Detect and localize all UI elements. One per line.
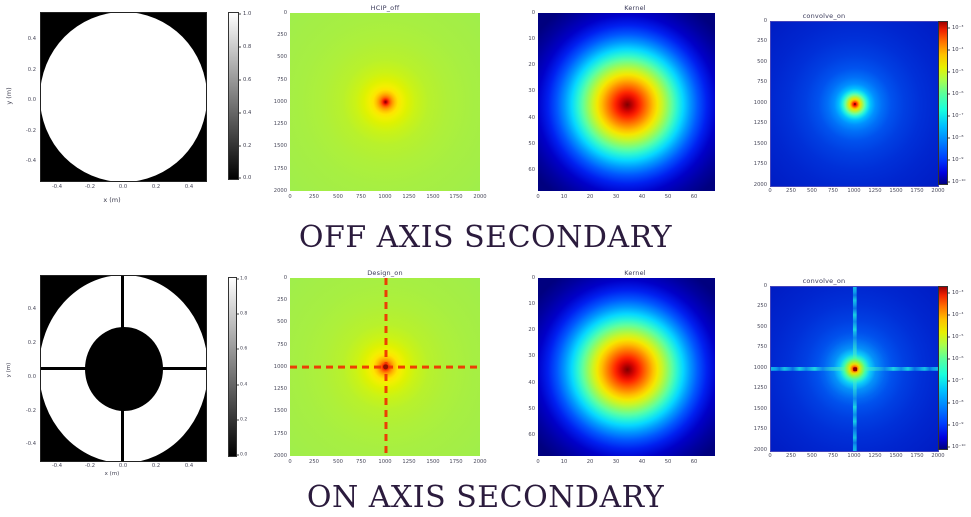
ytick-design-on-3: 750 [267,342,287,348]
ytick-kernel-on-1: 10 [518,301,535,307]
plot-area-hcip-off[interactable] [290,13,480,191]
plot-title-hcip-off: HCIP_off [255,4,515,12]
ytick-hcip-off-1: 250 [267,32,287,38]
cbtick-log-on-2: 10⁻⁵ [952,334,963,340]
xtick-design-on-5: 1250 [402,459,415,465]
cbtick-gray-off-3: 0.4 [243,110,251,116]
ytick-design-on-0: 0 [267,275,287,281]
colorbar-tickmark [948,160,950,161]
cbtick-log-off-2: 10⁻⁵ [952,69,963,75]
xtick-kernel-on-4: 40 [639,459,646,465]
ytick-aperture-off-4: -0.4 [14,158,36,164]
colorbar-tickmark [239,146,241,147]
cbtick-gray-on-3: 0.4 [240,383,247,388]
ytick-design-on-4: 1000 [267,364,287,370]
xtick-conv-off-8: 2000 [931,188,944,194]
heatmap-kernel-on [538,278,715,456]
figure-canvas: 0.4 0.2 0.0 -0.2 -0.4 -0.4 -0.2 0.0 0.2 … [0,0,971,517]
ytick-kernel-off-6: 60 [518,167,535,173]
panel-design-on: Design_on 0 250 500 750 1000 1250 1500 1… [255,265,515,480]
xtick-kernel-on-0: 0 [536,459,539,465]
ytick-kernel-off-3: 30 [518,88,535,94]
xtick-design-on-8: 2000 [473,459,486,465]
ytick-kernel-on-0: 0 [518,275,535,281]
ytick-kernel-off-4: 40 [518,115,535,121]
cbtick-log-off-7: 10⁻¹⁰ [952,179,966,185]
cbtick-gray-off-5: 0.0 [243,175,251,181]
cbtick-gray-on-2: 0.6 [240,347,247,352]
xaxis-label-aperture-off: x (m) [103,196,120,204]
colorbar-tickmark [948,425,950,426]
xtick-kernel-off-3: 30 [613,194,620,200]
cbtick-log-off-6: 10⁻⁹ [952,157,963,163]
xtick-conv-on-6: 1500 [889,453,902,459]
xtick-kernel-on-1: 10 [561,459,568,465]
colorbar-tickmark [237,279,239,280]
plot-title-kernel-off: Kernel [510,4,760,12]
plot-title-design-on: Design_on [255,269,515,277]
xtick-hcip-off-6: 1500 [426,194,439,200]
ytick-kernel-off-5: 50 [518,141,535,147]
cbtick-log-off-0: 10⁻³ [952,25,963,31]
ytick-aperture-on-3: -0.2 [14,408,36,414]
xtick-kernel-on-5: 50 [665,459,672,465]
xtick-conv-on-1: 250 [786,453,796,459]
colorbar-tickmark [237,455,239,456]
colorbar-tickmark [948,182,950,183]
colorbar-gradient [938,286,948,450]
colorbar-tickmark [948,50,950,51]
xtick-aperture-on-3: 0.2 [152,463,160,469]
colorbar-tickmark [948,447,950,448]
spider-vane-horizontal [41,367,206,370]
colorbar-tickmark [948,381,950,382]
cbtick-gray-off-1: 0.8 [243,44,251,50]
ytick-conv-off-5: 1250 [752,120,767,126]
cbtick-log-on-7: 10⁻¹⁰ [952,444,966,450]
plot-area-kernel-off[interactable] [538,13,715,191]
colorbar-tickmark [237,420,239,421]
yaxis-label-aperture-off: y (m) [5,87,13,104]
cbtick-log-on-1: 10⁻⁴ [952,312,963,318]
xaxis-label-aperture-on: x (m) [105,471,120,477]
ytick-aperture-on-0: 0.4 [18,306,36,312]
ytick-conv-off-7: 1750 [752,161,767,167]
xtick-hcip-off-0: 0 [288,194,291,200]
cbtick-gray-off-2: 0.6 [243,77,251,83]
xtick-aperture-off-4: 0.4 [185,184,193,190]
xtick-hcip-off-3: 750 [356,194,366,200]
cbtick-log-on-6: 10⁻⁹ [952,422,963,428]
xtick-conv-off-5: 1250 [868,188,881,194]
cbtick-gray-on-1: 0.8 [240,312,247,317]
ytick-conv-on-1: 250 [752,303,767,309]
colorbar-gradient [938,21,948,185]
xtick-aperture-on-4: 0.4 [185,463,193,469]
colorbar-tickmark [239,14,241,15]
xtick-conv-on-8: 2000 [931,453,944,459]
xtick-kernel-off-4: 40 [639,194,646,200]
ytick-conv-off-1: 250 [752,38,767,44]
xtick-kernel-off-5: 50 [665,194,672,200]
xtick-kernel-on-2: 20 [587,459,594,465]
ytick-hcip-off-5: 1250 [267,121,287,127]
ytick-design-on-6: 1500 [267,408,287,414]
panel-kernel-off-axis: Kernel 0 10 20 30 40 50 60 0 10 20 30 40… [510,0,760,215]
xtick-hcip-off-8: 2000 [473,194,486,200]
xtick-conv-on-5: 1250 [868,453,881,459]
ytick-design-on-8: 2000 [267,453,287,459]
xtick-design-on-3: 750 [356,459,366,465]
panel-aperture-off-axis: 0.4 0.2 0.0 -0.2 -0.4 -0.4 -0.2 0.0 0.2 … [0,0,250,215]
xtick-conv-off-2: 500 [807,188,817,194]
xtick-design-on-7: 1750 [449,459,462,465]
xtick-conv-on-3: 750 [828,453,838,459]
ytick-conv-on-3: 750 [752,344,767,350]
xtick-aperture-on-2: 0.0 [119,463,127,469]
xtick-design-on-1: 250 [309,459,319,465]
cbtick-gray-on-5: 0.0 [240,453,247,458]
ytick-hcip-off-2: 500 [267,54,287,60]
ytick-design-on-5: 1250 [267,386,287,392]
colorbar-tickmark [948,403,950,404]
ytick-hcip-off-7: 1750 [267,166,287,172]
xtick-kernel-off-2: 20 [587,194,594,200]
xtick-aperture-on-1: -0.2 [85,463,95,469]
ytick-kernel-off-0: 0 [518,10,535,16]
colorbar-tickmark [948,116,950,117]
caption-off-axis-secondary: OFF AXIS SECONDARY [0,220,971,255]
colorbar-tickmark [948,94,950,95]
ytick-conv-on-4: 1000 [752,365,767,371]
cbtick-gray-on-4: 0.2 [240,418,247,423]
cbtick-log-off-3: 10⁻⁶ [952,91,963,97]
psf-core [853,368,857,372]
colorbar-tickmark [239,113,241,114]
xtick-design-on-0: 0 [288,459,291,465]
plot-area-aperture-on-axis[interactable] [40,275,207,462]
panel-hcip-off: HCIP_off 0 250 500 750 1000 1250 1500 17… [255,0,515,215]
plot-title-convolve-on: convolve_on [714,277,934,285]
colorbar-tickmark [239,178,241,179]
psf-core [383,364,389,369]
xtick-kernel-off-6: 60 [691,194,698,200]
xtick-aperture-on-0: -0.4 [52,463,62,469]
xtick-conv-off-0: 0 [768,188,771,194]
ytick-conv-off-2: 500 [752,59,767,65]
ytick-aperture-on-2: 0.0 [18,374,36,380]
xtick-kernel-off-1: 10 [561,194,568,200]
panel-kernel-on-axis: Kernel 0 10 20 30 40 50 60 0 10 20 30 40… [510,265,760,480]
cbtick-gray-on-0: 1.0 [240,277,247,282]
xtick-design-on-2: 500 [333,459,343,465]
ytick-hcip-off-3: 750 [267,77,287,83]
cbtick-log-off-5: 10⁻⁸ [952,135,963,141]
caption-on-axis-secondary: ON AXIS SECONDARY [0,480,971,515]
panel-aperture-on-axis: 0.4 0.2 0.0 -0.2 -0.4 -0.4 -0.2 0.0 0.2 … [0,265,250,480]
heatmap-kernel-off [538,13,715,191]
plot-title-convolve-off: convolve_on [714,12,934,20]
colorbar-tickmark [237,349,239,350]
ytick-design-on-2: 500 [267,319,287,325]
ytick-hcip-off-8: 2000 [267,188,287,194]
xtick-conv-off-1: 250 [786,188,796,194]
ytick-hcip-off-0: 0 [267,10,287,16]
ytick-kernel-on-3: 30 [518,353,535,359]
ytick-hcip-off-6: 1500 [267,143,287,149]
plot-title-kernel-on: Kernel [510,269,760,277]
cbtick-log-off-4: 10⁻⁷ [952,113,963,119]
ytick-conv-on-0: 0 [752,283,767,289]
ytick-aperture-on-1: 0.2 [18,340,36,346]
xtick-hcip-off-5: 1250 [402,194,415,200]
plot-area-convolve-on[interactable] [770,286,939,452]
colorbar-tickmark [948,28,950,29]
colorbar-gradient [228,12,239,180]
plot-area-kernel-on[interactable] [538,278,715,456]
ytick-aperture-off-0: 0.4 [18,36,36,42]
xtick-kernel-on-3: 30 [613,459,620,465]
heatmap-hcip-off [290,13,480,191]
ytick-conv-on-7: 1750 [752,426,767,432]
ytick-conv-on-2: 500 [752,324,767,330]
ytick-conv-off-3: 750 [752,79,767,85]
colorbar-log-on-axis[interactable]: 10⁻³ 10⁻⁴ 10⁻⁵ 10⁻⁶ 10⁻⁷ 10⁻⁸ 10⁻⁹ 10⁻¹⁰ [938,286,948,450]
ytick-aperture-off-2: 0.0 [18,97,36,103]
colorbar-tickmark [237,314,239,315]
xtick-conv-off-4: 1000 [847,188,860,194]
ytick-conv-off-0: 0 [752,18,767,24]
xtick-hcip-off-4: 1000 [378,194,391,200]
ytick-conv-off-4: 1000 [752,100,767,106]
ytick-conv-off-8: 2000 [752,182,767,188]
plot-area-convolve-off[interactable] [770,21,939,187]
ytick-conv-on-5: 1250 [752,385,767,391]
ytick-kernel-off-2: 20 [518,62,535,68]
colorbar-tickmark [948,315,950,316]
ytick-aperture-on-4: -0.4 [14,441,36,447]
colorbar-gradient [228,277,237,457]
xtick-conv-off-7: 1750 [910,188,923,194]
colorbar-gray-on-axis[interactable]: 1.0 0.8 0.6 0.4 0.2 0.0 [228,277,237,457]
ytick-conv-on-8: 2000 [752,447,767,453]
xtick-hcip-off-7: 1750 [449,194,462,200]
ytick-kernel-on-5: 50 [518,406,535,412]
xtick-aperture-off-2: 0.0 [119,184,127,190]
ytick-design-on-7: 1750 [267,431,287,437]
ytick-kernel-on-2: 20 [518,327,535,333]
cbtick-log-on-0: 10⁻³ [952,290,963,296]
cbtick-log-on-5: 10⁻⁸ [952,400,963,406]
cbtick-gray-off-4: 0.2 [243,143,251,149]
colorbar-tickmark [239,47,241,48]
xtick-kernel-on-6: 60 [691,459,698,465]
ytick-design-on-1: 250 [267,297,287,303]
cbtick-log-off-1: 10⁻⁴ [952,47,963,53]
ytick-conv-on-6: 1500 [752,406,767,412]
xtick-conv-off-6: 1500 [889,188,902,194]
colorbar-tickmark [239,80,241,81]
ytick-kernel-off-1: 10 [518,36,535,42]
colorbar-tickmark [948,359,950,360]
xtick-conv-on-2: 500 [807,453,817,459]
pupil-seam [41,95,206,98]
yaxis-label-aperture-on: y (m) [6,363,12,378]
xtick-conv-off-3: 750 [828,188,838,194]
xtick-conv-on-7: 1750 [910,453,923,459]
ytick-aperture-off-3: -0.2 [14,128,36,134]
colorbar-tickmark [237,385,239,386]
xtick-conv-on-4: 1000 [847,453,860,459]
ytick-kernel-on-6: 60 [518,432,535,438]
xtick-hcip-off-2: 500 [333,194,343,200]
xtick-kernel-off-0: 0 [536,194,539,200]
plot-area-design-on[interactable] [290,278,480,456]
ytick-hcip-off-4: 1000 [267,99,287,105]
colorbar-log-off-axis[interactable]: 10⁻³ 10⁻⁴ 10⁻⁵ 10⁻⁶ 10⁻⁷ 10⁻⁸ 10⁻⁹ 10⁻¹⁰ [938,21,948,185]
plot-area-aperture-off-axis[interactable] [40,12,207,182]
colorbar-tickmark [948,138,950,139]
xtick-hcip-off-1: 250 [309,194,319,200]
xtick-aperture-off-3: 0.2 [152,184,160,190]
colorbar-tickmark [948,293,950,294]
colorbar-gray-off-axis[interactable]: 1.0 0.8 0.6 0.4 0.2 0.0 [228,12,239,180]
xtick-aperture-off-0: -0.4 [52,184,62,190]
xtick-design-on-4: 1000 [378,459,391,465]
cbtick-gray-off-0: 1.0 [243,11,251,17]
xtick-conv-on-0: 0 [768,453,771,459]
colorbar-tickmark [948,72,950,73]
xtick-design-on-6: 1500 [426,459,439,465]
cbtick-log-on-3: 10⁻⁶ [952,356,963,362]
ytick-conv-off-6: 1500 [752,141,767,147]
xtick-aperture-off-1: -0.2 [85,184,95,190]
ytick-kernel-on-4: 40 [518,380,535,386]
ytick-aperture-off-1: 0.2 [18,67,36,73]
cbtick-log-on-4: 10⁻⁷ [952,378,963,384]
colorbar-tickmark [948,337,950,338]
